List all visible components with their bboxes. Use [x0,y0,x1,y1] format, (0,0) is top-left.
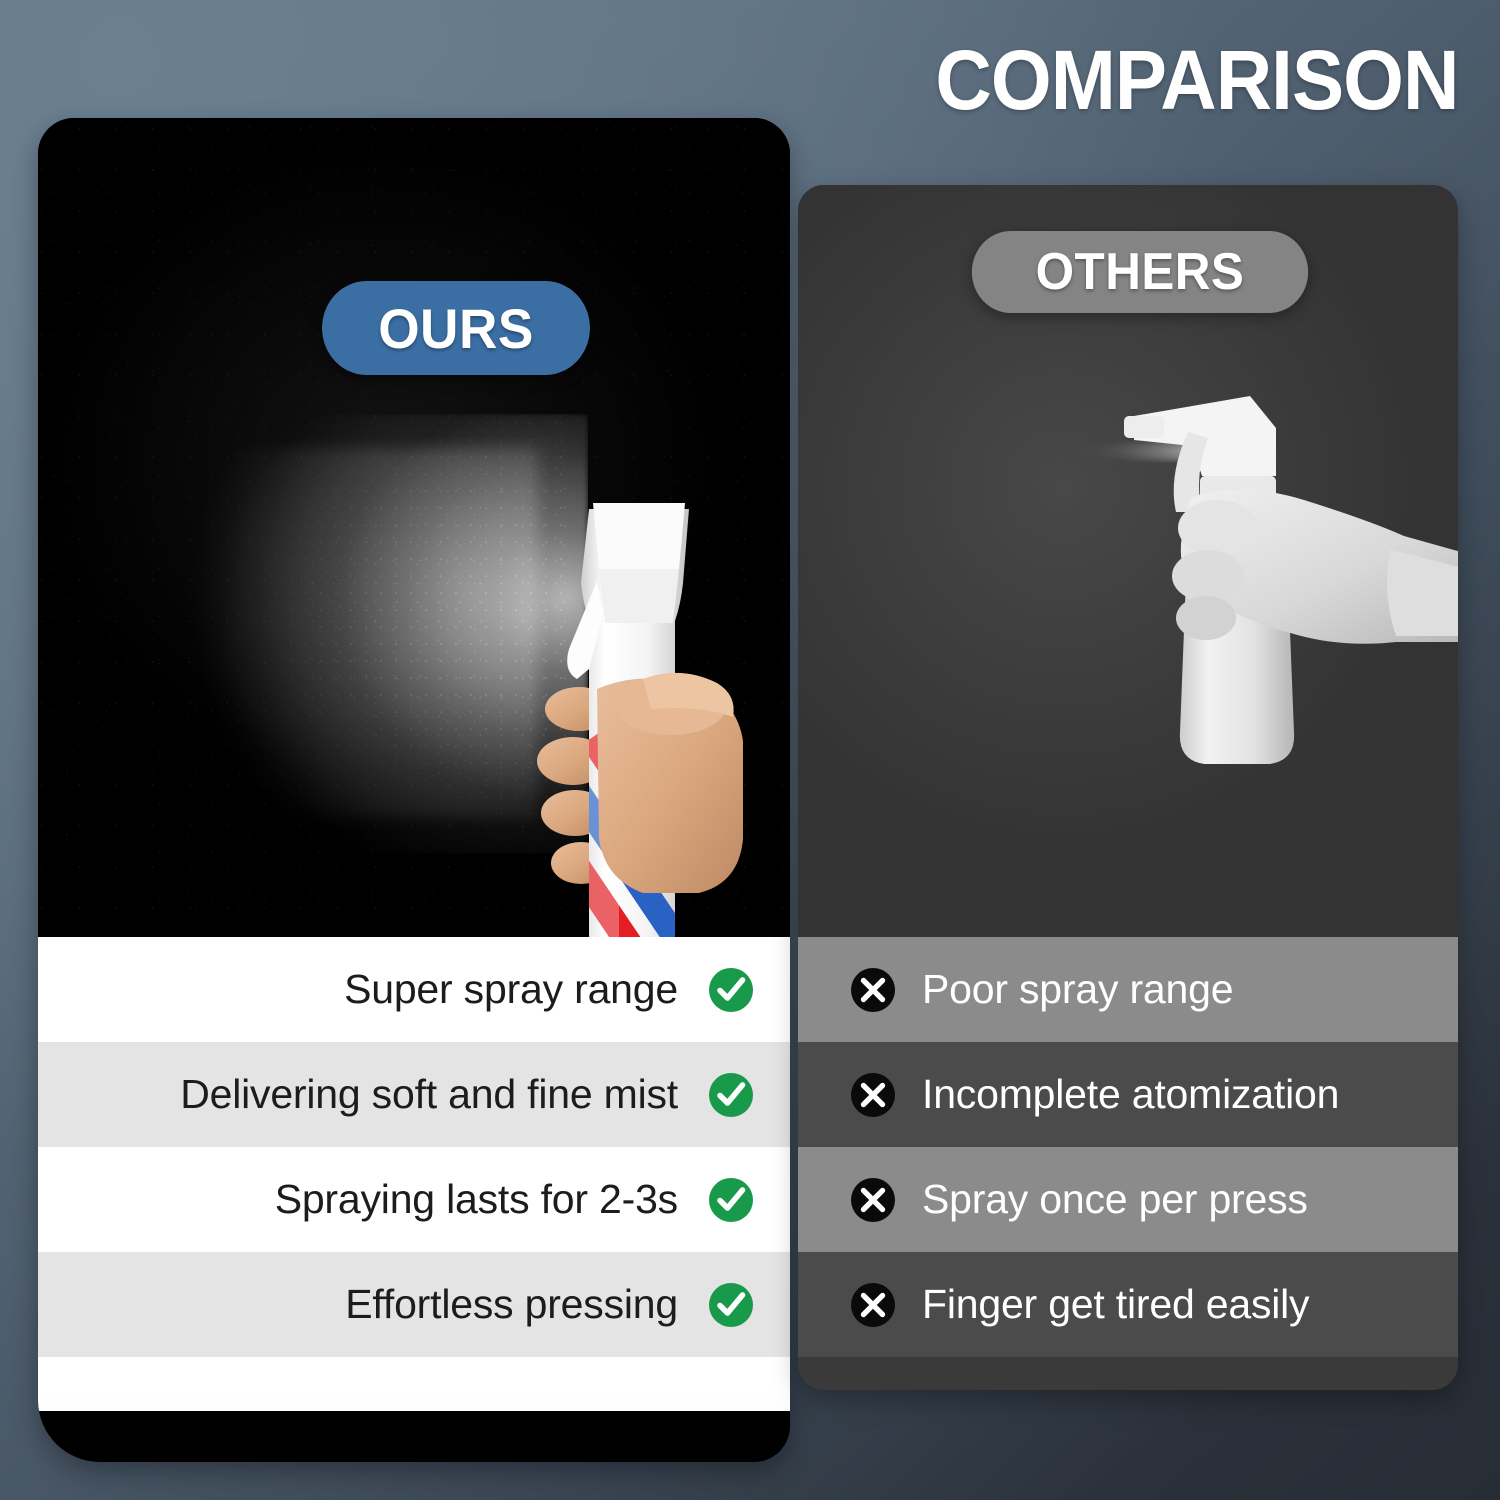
feature-label: Spray once per press [922,1176,1308,1223]
gloved-hand [1172,489,1458,646]
cross-circle-icon [850,1072,896,1118]
feature-label: Incomplete atomization [922,1071,1339,1118]
feature-label: Effortless pressing [345,1281,678,1328]
comparison-infographic: COMPARISON [0,0,1500,1500]
others-badge: OTHERS [972,231,1308,313]
others-feature-list: Poor spray range Incomplete atomization … [798,937,1458,1390]
mist-droplets [48,418,568,848]
others-list-footer [798,1357,1458,1390]
ours-badge: OURS [322,281,590,375]
feature-label: Finger get tired easily [922,1281,1309,1328]
feature-label: Spraying lasts for 2-3s [275,1176,678,1223]
check-circle-icon [708,967,754,1013]
feature-label: Poor spray range [922,966,1233,1013]
page-title: COMPARISON [935,38,1458,122]
list-item[interactable]: Poor spray range [798,937,1458,1042]
hand-front [597,673,743,893]
list-item[interactable]: Finger get tired easily [798,1252,1458,1357]
check-circle-icon [708,1177,754,1223]
list-item[interactable]: Delivering soft and fine mist [38,1042,790,1147]
feature-label: Delivering soft and fine mist [180,1071,678,1118]
list-item[interactable]: Incomplete atomization [798,1042,1458,1147]
others-product-illustration [1090,380,1458,800]
others-panel: Poor spray range Incomplete atomization … [798,185,1458,1390]
ours-panel: Super spray range Delivering soft and fi… [38,118,790,1462]
ours-feature-list: Super spray range Delivering soft and fi… [38,937,790,1411]
check-circle-icon [708,1282,754,1328]
cross-circle-icon [850,1282,896,1328]
cross-circle-icon [850,967,896,1013]
ours-product-illustration [493,473,790,993]
ours-photo [38,118,790,937]
list-item[interactable]: Spray once per press [798,1147,1458,1252]
list-item[interactable]: Spraying lasts for 2-3s [38,1147,790,1252]
check-circle-icon [708,1072,754,1118]
ours-badge-label: OURS [378,296,534,361]
feature-label: Super spray range [344,966,678,1013]
list-item[interactable]: Effortless pressing [38,1252,790,1357]
ours-list-footer [38,1357,790,1411]
list-item[interactable]: Super spray range [38,937,790,1042]
others-badge-label: OTHERS [1036,242,1245,302]
cross-circle-icon [850,1177,896,1223]
